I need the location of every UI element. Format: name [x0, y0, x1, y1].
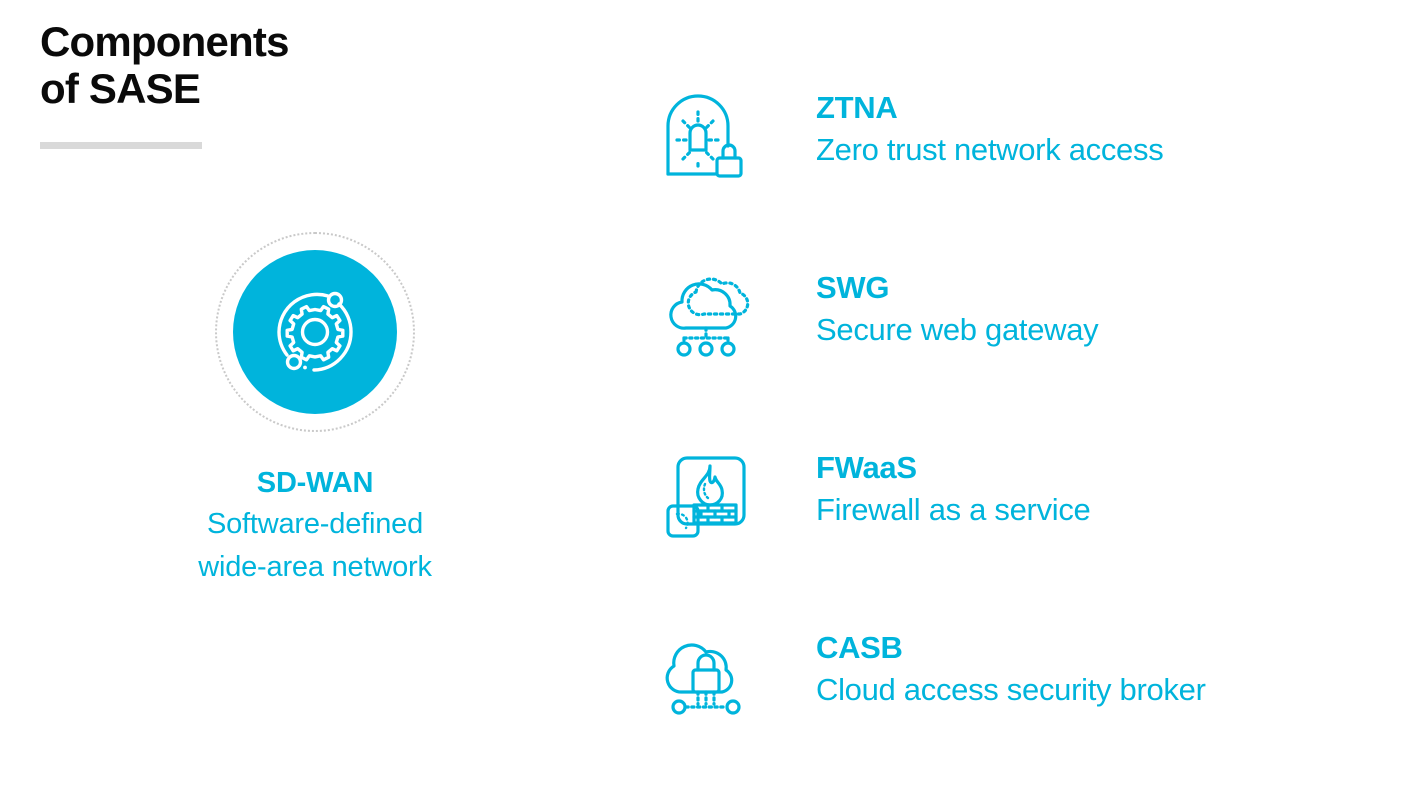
sd-wan-description: Software-defined wide-area network: [100, 503, 530, 590]
component-abbr: ZTNA: [816, 90, 1163, 126]
component-text-casb: CASB Cloud access security broker: [816, 628, 1206, 710]
component-abbr: SWG: [816, 270, 1098, 306]
component-description: Zero trust network access: [816, 130, 1163, 170]
component-list: ZTNA Zero trust network access: [660, 88, 1380, 808]
component-text-ztna: ZTNA Zero trust network access: [816, 88, 1163, 170]
component-description: Cloud access security broker: [816, 670, 1206, 710]
component-text-fwaas: FWaaS Firewall as a service: [816, 448, 1091, 530]
sd-wan-badge: [215, 232, 415, 432]
component-row-swg: SWG Secure web gateway: [660, 268, 1380, 448]
sd-wan-text: SD-WAN Software-defined wide-area networ…: [100, 466, 530, 590]
gear-orbit-icon: [265, 282, 365, 382]
featured-component-sd-wan: SD-WAN Software-defined wide-area networ…: [100, 232, 530, 590]
component-text-swg: SWG Secure web gateway: [816, 268, 1098, 350]
page-title: Components of SASE: [40, 18, 460, 112]
cloud-lock-icon: [660, 628, 756, 724]
title-block: Components of SASE: [40, 18, 460, 149]
component-row-casb: CASB Cloud access security broker: [660, 628, 1380, 808]
component-row-fwaas: FWaaS Firewall as a service: [660, 448, 1380, 628]
component-description: Secure web gateway: [816, 310, 1098, 350]
sd-wan-abbr: SD-WAN: [100, 466, 530, 501]
gateway-arch-lock-icon: [660, 88, 756, 184]
component-abbr: FWaaS: [816, 450, 1091, 486]
title-divider: [40, 142, 202, 149]
component-description: Firewall as a service: [816, 490, 1091, 530]
cloud-nodes-icon: [660, 268, 756, 364]
component-abbr: CASB: [816, 630, 1206, 666]
component-row-ztna: ZTNA Zero trust network access: [660, 88, 1380, 268]
firewall-flame-icon: [660, 448, 756, 544]
